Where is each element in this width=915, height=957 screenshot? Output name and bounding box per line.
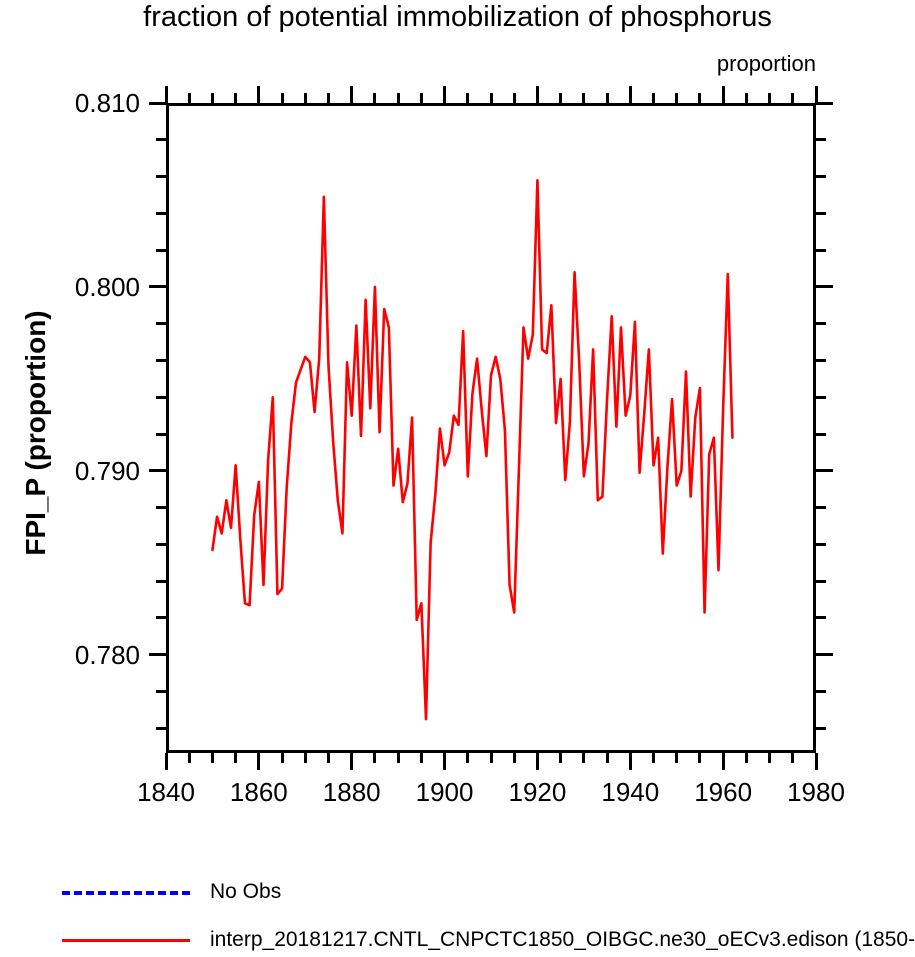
x-tick-label: 1960 [694,779,752,805]
x-tick-major [443,753,446,770]
y-tick-minor [156,249,166,252]
y-tick-minor [156,212,166,215]
x-tick-top-major [536,86,539,103]
x-tick-top-major [350,86,353,103]
x-tick-top-minor [768,93,771,103]
x-tick-top-minor [513,93,516,103]
x-tick-minor [304,753,307,763]
y-tick-minor [156,322,166,325]
x-tick-top-minor [490,93,493,103]
legend-label-no-obs: No Obs [210,879,281,905]
legend-swatch-dashed-line [62,891,190,895]
y-tick-major [149,285,166,288]
legend-label-series: interp_20181217.CNTL_CNPCTC1850_OIBGC.ne… [210,927,915,953]
y-tick-major [149,469,166,472]
x-tick-major [257,753,260,770]
x-tick-minor [768,753,771,763]
x-tick-top-minor [397,93,400,103]
y-tick-major [149,102,166,105]
x-tick-top-minor [188,93,191,103]
y-tick-right-major [816,469,833,472]
x-tick-minor [606,753,609,763]
x-tick-minor [211,753,214,763]
y-tick-right-major [816,102,833,105]
y-tick-minor [156,396,166,399]
legend-swatch-solid-line [62,939,190,942]
y-tick-minor [156,690,166,693]
y-tick-minor [156,580,166,583]
y-tick-right-minor [816,727,826,730]
x-tick-minor [559,753,562,763]
y-tick-minor [156,433,166,436]
x-tick-top-minor [652,93,655,103]
x-tick-minor [490,753,493,763]
y-axis-label: FPI_P (proportion) [21,123,51,743]
x-tick-top-minor [466,93,469,103]
x-tick-minor [373,753,376,763]
y-tick-right-minor [816,175,826,178]
x-tick-minor [582,753,585,763]
plot-area: 0.7800.7900.8000.810 1840186018801900192… [166,103,816,753]
x-tick-top-major [629,86,632,103]
y-tick-right-minor [816,690,826,693]
y-tick-minor [156,138,166,141]
x-tick-top-minor [606,93,609,103]
x-tick-label: 1900 [416,779,474,805]
x-tick-top-minor [675,93,678,103]
y-tick-right-minor [816,322,826,325]
x-tick-top-major [165,86,168,103]
y-tick-right-minor [816,396,826,399]
x-tick-top-minor [559,93,562,103]
x-tick-label: 1980 [787,779,845,805]
x-tick-top-minor [698,93,701,103]
x-tick-top-minor [373,93,376,103]
x-tick-top-minor [582,93,585,103]
x-tick-major [722,753,725,770]
x-tick-minor [420,753,423,763]
x-tick-minor [327,753,330,763]
x-tick-label: 1940 [601,779,659,805]
x-tick-minor [513,753,516,763]
y-tick-right-minor [816,359,826,362]
x-tick-minor [397,753,400,763]
y-tick-minor [156,175,166,178]
y-tick-label: 0.810 [75,90,140,116]
y-tick-right-minor [816,138,826,141]
y-tick-right-major [816,285,833,288]
x-tick-label: 1920 [509,779,567,805]
x-tick-top-minor [281,93,284,103]
y-tick-minor [156,727,166,730]
y-tick-minor [156,359,166,362]
x-tick-minor [675,753,678,763]
x-tick-major [536,753,539,770]
y-tick-right-minor [816,616,826,619]
y-tick-major [149,653,166,656]
y-tick-right-minor [816,543,826,546]
x-tick-minor [466,753,469,763]
x-tick-top-minor [420,93,423,103]
x-tick-label: 1860 [230,779,288,805]
x-tick-top-minor [327,93,330,103]
series-line-interp [212,180,732,719]
x-tick-major [815,753,818,770]
y-tick-minor [156,616,166,619]
y-tick-minor [156,506,166,509]
x-tick-top-major [722,86,725,103]
data-series-layer [166,103,816,753]
x-tick-major [350,753,353,770]
x-tick-minor [745,753,748,763]
x-tick-top-major [257,86,260,103]
x-tick-top-minor [234,93,237,103]
x-tick-top-major [443,86,446,103]
x-tick-minor [652,753,655,763]
x-tick-major [165,753,168,770]
y-tick-label: 0.780 [75,642,140,668]
chart-title: fraction of potential immobilization of … [0,0,915,34]
y-tick-right-minor [816,580,826,583]
x-tick-top-minor [745,93,748,103]
x-tick-label: 1840 [137,779,195,805]
y-tick-label: 0.800 [75,274,140,300]
y-tick-right-minor [816,506,826,509]
x-tick-minor [234,753,237,763]
y-tick-right-minor [816,433,826,436]
x-tick-top-major [815,86,818,103]
x-tick-minor [281,753,284,763]
y-tick-label: 0.790 [75,458,140,484]
unit-label: proportion [717,52,816,76]
y-tick-minor [156,543,166,546]
x-tick-minor [791,753,794,763]
y-tick-right-major [816,653,833,656]
x-tick-label: 1880 [323,779,381,805]
x-tick-minor [188,753,191,763]
y-tick-right-minor [816,212,826,215]
x-tick-minor [698,753,701,763]
x-tick-top-minor [791,93,794,103]
x-tick-major [629,753,632,770]
x-tick-top-minor [304,93,307,103]
y-tick-right-minor [816,249,826,252]
x-tick-top-minor [211,93,214,103]
